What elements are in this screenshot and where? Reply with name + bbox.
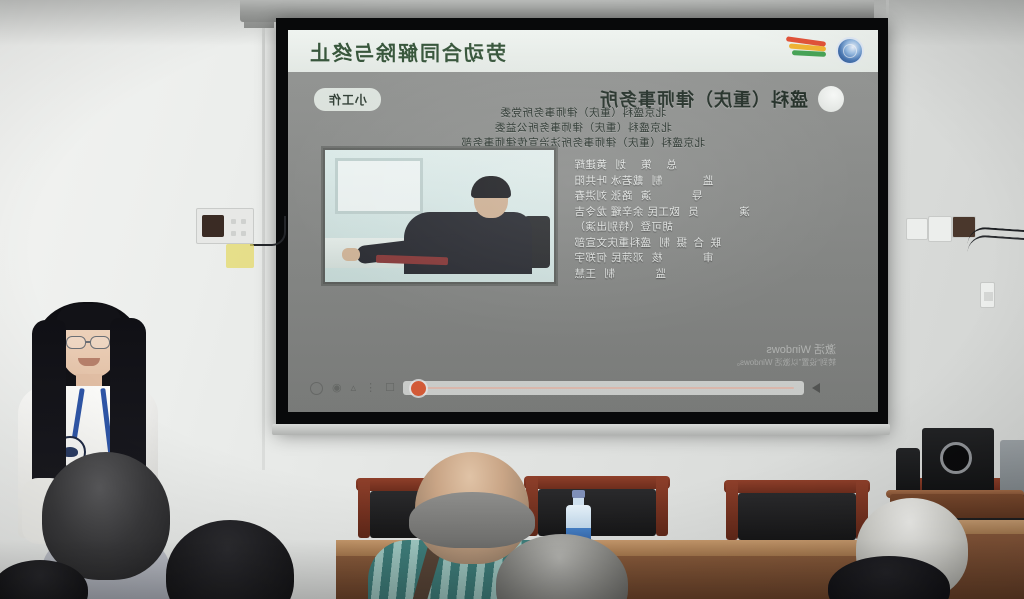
cable-icon — [967, 234, 1024, 256]
slide-mirrored-content: 劳动合同解除与终止 盛科（重庆）律师事务所 小工作 北京盛科（重庆）律师事务所党… — [288, 30, 878, 412]
wall-tag — [226, 244, 254, 268]
slide: 劳动合同解除与终止 盛科（重庆）律师事务所 小工作 北京盛科（重庆）律师事务所党… — [288, 30, 878, 412]
credit-row: 监制 戴若冰 叶共阳 — [574, 174, 824, 190]
credits-list: 总策划 黄建辉 监制 戴若冰 叶共阳 导演 路张 刘洪春 — [574, 158, 824, 282]
credit-role: 导演 — [640, 189, 702, 205]
slide-top-bar: 劳动合同解除与终止 — [288, 30, 878, 72]
projection-screen-bottom-bar — [272, 424, 890, 435]
play-icon[interactable] — [812, 383, 820, 393]
volume-icon[interactable]: ▵ — [351, 383, 357, 394]
video-thumbnail[interactable] — [321, 146, 558, 286]
credit-name: 邓萍民 何郑宇 — [574, 251, 643, 267]
globe-emblem-logo-icon — [836, 37, 864, 65]
wall-socket-panel-left — [196, 208, 254, 244]
windows-activation-watermark: 激活 Windows 转到“设置”以激活 Windows。 — [732, 343, 836, 368]
credit-role: 审核 — [651, 251, 713, 267]
credit-role: 联合摄制 — [659, 236, 721, 252]
progress-knob[interactable] — [411, 381, 426, 396]
camera-icon[interactable]: ☐ — [385, 383, 395, 394]
watermark-line-2: 转到“设置”以激活 Windows。 — [732, 357, 836, 368]
progress-bar[interactable] — [403, 381, 804, 395]
switch-dot — [231, 219, 236, 224]
credit-row: 胡可登（特别出演） — [574, 220, 824, 236]
credit-name: 欧工民 余辛耀 龙令吉 — [574, 205, 680, 221]
glasses-bridge — [86, 341, 90, 343]
credit-name: 王慧 — [574, 267, 596, 283]
seminar-room-photo: 劳动合同解除与终止 盛科（重庆）律师事务所 小工作 北京盛科（重庆）律师事务所党… — [0, 0, 1024, 599]
switch-dot — [241, 219, 246, 224]
glasses-icon — [66, 336, 86, 349]
cable-icon — [250, 216, 286, 246]
credit-role: 总策划 — [615, 158, 677, 174]
credit-row: 审核 邓萍民 何郑宇 — [574, 251, 824, 267]
video-person-hand — [342, 248, 360, 261]
organization-lines: 北京盛科（重庆）律师事务所党委 北京盛科（重庆）律师事务所公益委 北京盛科（重庆… — [288, 106, 878, 151]
credit-name: 黄建辉 — [574, 158, 607, 174]
org-line: 北京盛科（重庆）律师事务所公益委 — [288, 121, 878, 136]
satellite-speaker — [896, 448, 920, 496]
switch-dot — [231, 231, 236, 236]
more-icon[interactable] — [310, 382, 323, 395]
subwoofer-speaker — [922, 428, 994, 494]
credit-name: 戴若冰 叶共阳 — [574, 174, 643, 190]
credit-row: 联合摄制 盛科重庆文宣部 — [574, 236, 824, 252]
slide-top-title: 劳动合同解除与终止 — [308, 37, 506, 66]
audience-head-left-dark — [42, 452, 170, 580]
credit-name: 路张 刘洪春 — [574, 189, 632, 205]
credit-row: 演员 欧工民 余辛耀 龙令吉 — [574, 205, 824, 221]
progress-track — [413, 387, 794, 389]
bottle-cap — [572, 490, 585, 498]
whiteboard-icon — [335, 158, 423, 214]
projection-screen-frame: 劳动合同解除与终止 盛科（重庆）律师事务所 小工作 北京盛科（重庆）律师事务所党… — [276, 18, 888, 430]
wall-socket-panel-right-b — [928, 216, 952, 242]
wall-socket-panel-right — [906, 218, 928, 240]
credit-name: 盛科重庆文宣部 — [574, 236, 651, 252]
credit-name: 胡可登（特别出演） — [574, 220, 673, 236]
credit-row: 总策划 黄建辉 — [574, 158, 824, 174]
credit-row: 监制 王慧 — [574, 267, 824, 283]
light-switch-icon — [980, 282, 995, 308]
credit-role: 监制 — [604, 267, 666, 283]
credit-role: 演员 — [688, 205, 750, 221]
audience-hair-center — [409, 492, 535, 548]
credit-role: 监制 — [651, 174, 713, 190]
fullscreen-icon[interactable]: ⋮ — [365, 383, 376, 394]
settings-icon[interactable]: ◉ — [332, 383, 342, 394]
projection-screen-surface: 劳动合同解除与终止 盛科（重庆）律师事务所 小工作 北京盛科（重庆）律师事务所党… — [288, 30, 878, 412]
ribbon-wave-logo-icon — [786, 37, 826, 65]
watermark-line-1: 激活 Windows — [732, 343, 836, 357]
laptop — [1000, 440, 1024, 494]
player-icon-group[interactable]: ☐ ⋮ ▵ ◉ — [310, 382, 395, 395]
switch-dot — [241, 231, 246, 236]
power-outlet-icon — [202, 215, 224, 237]
glasses-icon — [90, 336, 110, 349]
video-player-controls[interactable]: ☐ ⋮ ▵ ◉ — [310, 378, 826, 398]
org-line: 北京盛科（重庆）律师事务所党委 — [288, 106, 878, 121]
speaker-port-icon — [940, 442, 972, 474]
credit-row: 导演 路张 刘洪春 — [574, 189, 824, 205]
slide-body: 盛科（重庆）律师事务所 小工作 北京盛科（重庆）律师事务所党委 北京盛科（重庆）… — [288, 72, 878, 412]
